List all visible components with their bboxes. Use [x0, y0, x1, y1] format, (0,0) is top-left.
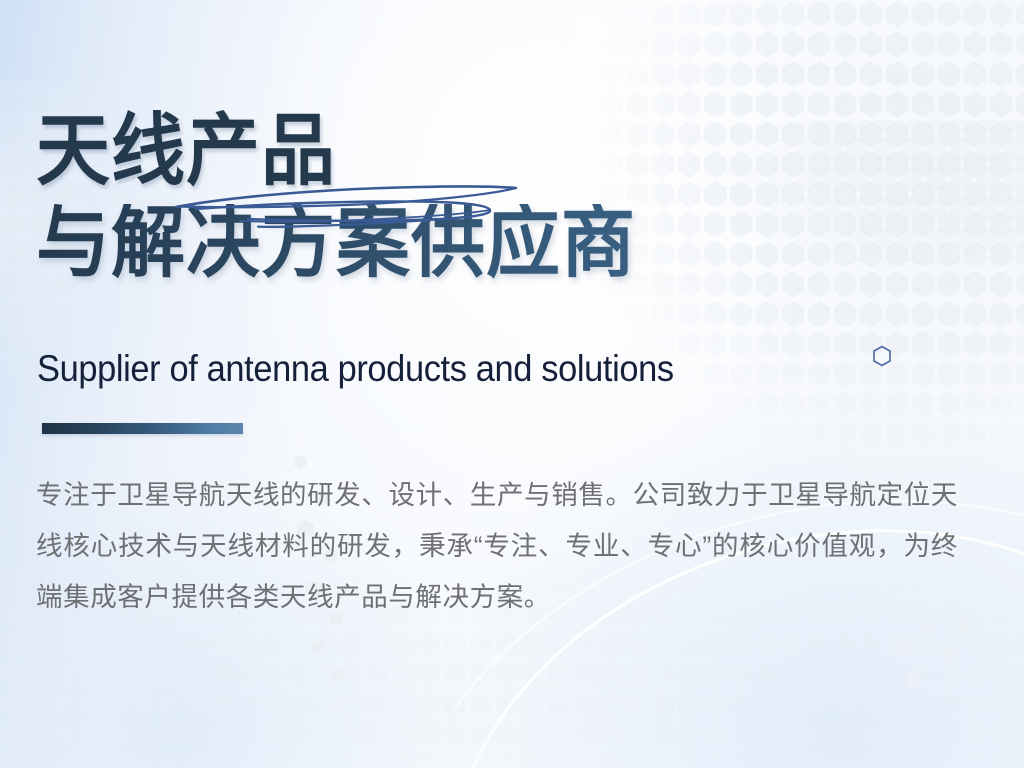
- hexagon-outline-icon: [872, 345, 892, 367]
- slide-content: 天线产品 与解决方案供应商 Supplier of antenna produc…: [0, 0, 1024, 768]
- body-paragraph: 专注于卫星导航天线的研发、设计、生产与销售。公司致力于卫星导航定位天线核心技术与…: [36, 470, 958, 623]
- headline-line-1: 天线产品: [36, 112, 836, 190]
- headline-line-2: 与解决方案供应商: [36, 204, 836, 282]
- subtitle-english: Supplier of antenna products and solutio…: [37, 348, 674, 390]
- headline-block: 天线产品 与解决方案供应商: [36, 112, 836, 278]
- gradient-divider: [42, 423, 243, 434]
